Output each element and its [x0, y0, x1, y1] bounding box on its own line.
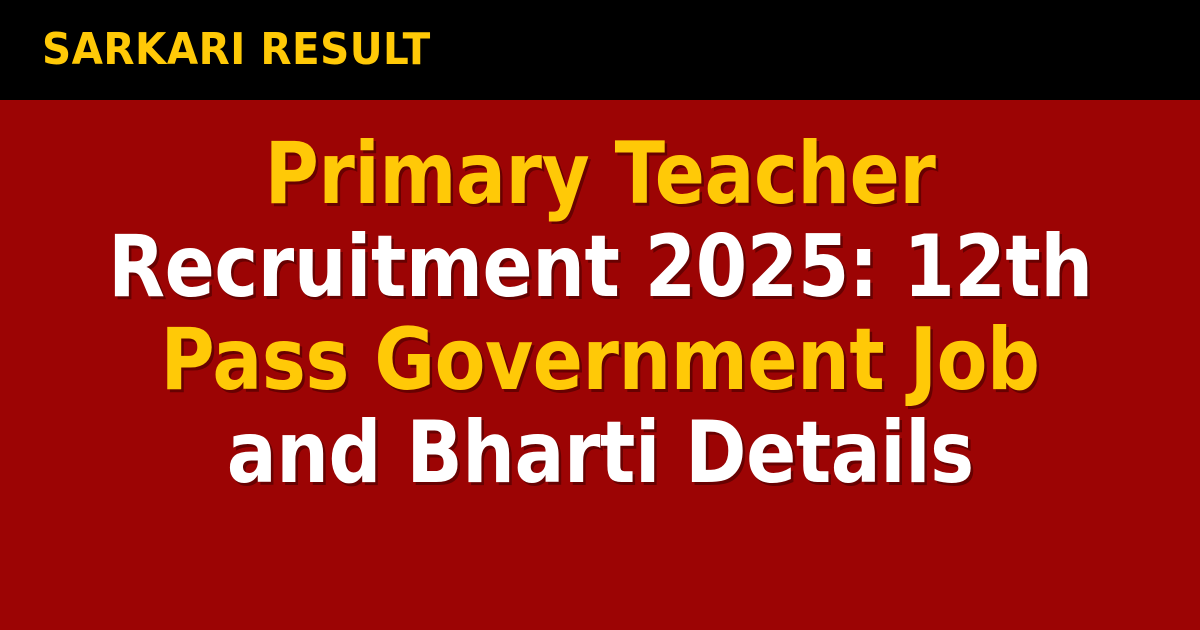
headline-line-1-text: Primary Teacher	[265, 128, 936, 221]
headline-line-1: Primary Teacher	[0, 128, 1200, 221]
headline-line-4: and Bharti Details	[0, 407, 1200, 500]
brand-header-bar: SARKARI RESULT	[0, 0, 1200, 100]
headline-line-2: Recruitment 2025: 12th	[0, 221, 1200, 314]
headline-line-3-text: Pass Government Job	[160, 314, 1039, 407]
poster-canvas: SARKARI RESULT Primary Teacher Recruitme…	[0, 0, 1200, 630]
headline-line-2-text: Recruitment 2025: 12th	[108, 221, 1092, 314]
headline-line-4-text: and Bharti Details	[227, 407, 974, 500]
brand-title: SARKARI RESULT	[42, 28, 431, 72]
headline-line-3: Pass Government Job	[0, 314, 1200, 407]
headline-block: Primary Teacher Recruitment 2025: 12th P…	[0, 128, 1200, 500]
